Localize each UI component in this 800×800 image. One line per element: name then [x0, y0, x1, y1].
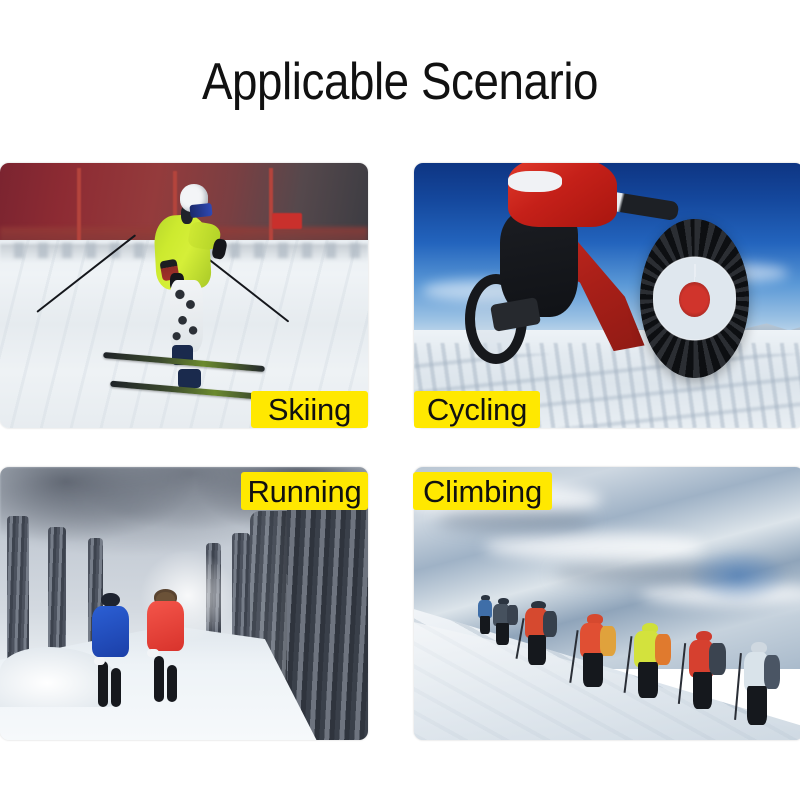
skier-boot-front [178, 369, 201, 389]
skier-goggles [190, 203, 213, 218]
climber-5-backpack [655, 634, 671, 665]
climber-2-backpack [507, 605, 518, 624]
climber-7 [742, 642, 777, 724]
ski-red-sign [272, 213, 301, 229]
climber-7-backpack [764, 655, 780, 689]
skiing-scene-image [0, 163, 368, 428]
scenario-label-running: Running [241, 472, 368, 510]
climber-6-legs [693, 672, 713, 709]
cyclist-glove [508, 171, 563, 192]
climber-5-legs [638, 662, 658, 697]
climber-3 [523, 601, 554, 664]
scenario-panel-cycling[interactable] [414, 163, 800, 428]
climber-7-legs [747, 686, 767, 725]
applicable-scenario-page: Applicable Scenario [0, 0, 800, 800]
scenario-label-cycling: Cycling [414, 391, 540, 428]
scenario-label-skiing: Skiing [251, 391, 368, 428]
running-tree-trunk-large-right [287, 494, 368, 740]
ski-fence-post-left [77, 168, 81, 248]
runner-blue-figure [88, 593, 132, 708]
runner-red-leg-left [154, 656, 164, 702]
skier-camo-pants [170, 280, 203, 352]
climber-3-backpack [543, 611, 557, 637]
climber-4 [578, 614, 613, 685]
climber-2 [492, 598, 515, 644]
climber-6 [687, 631, 722, 707]
climbing-cloud-streak-2 [484, 533, 702, 560]
climber-2-legs [496, 623, 509, 645]
page-title: Applicable Scenario [48, 52, 752, 112]
scenario-panel-skiing[interactable] [0, 163, 368, 428]
climbing-blue-sky-patch [687, 549, 788, 604]
cycling-scene-image [414, 163, 800, 428]
runner-blue-shoe [94, 657, 105, 665]
climber-4-legs [583, 653, 603, 687]
runner-blue-leg-left [98, 661, 108, 707]
runner-red-shoe [147, 649, 158, 657]
runner-blue-head [101, 593, 120, 608]
scenario-label-climbing: Climbing [413, 472, 552, 510]
runner-blue-leg-right [111, 668, 121, 707]
runner-red-leg-right [167, 665, 177, 702]
runner-blue-jacket [92, 606, 129, 656]
runner-red-figure [144, 587, 188, 702]
climber-4-backpack [600, 626, 616, 656]
skier-glove-right [211, 237, 228, 259]
runner-red-jacket [147, 601, 184, 651]
climber-5 [632, 623, 667, 697]
climber-3-legs [528, 635, 545, 665]
ski-fence-post-right [269, 168, 273, 248]
climbing-dark-cloud-1 [437, 511, 593, 530]
bicycle-red-hub [679, 282, 710, 316]
climber-6-backpack [709, 643, 725, 675]
climber-1-legs [480, 616, 491, 634]
